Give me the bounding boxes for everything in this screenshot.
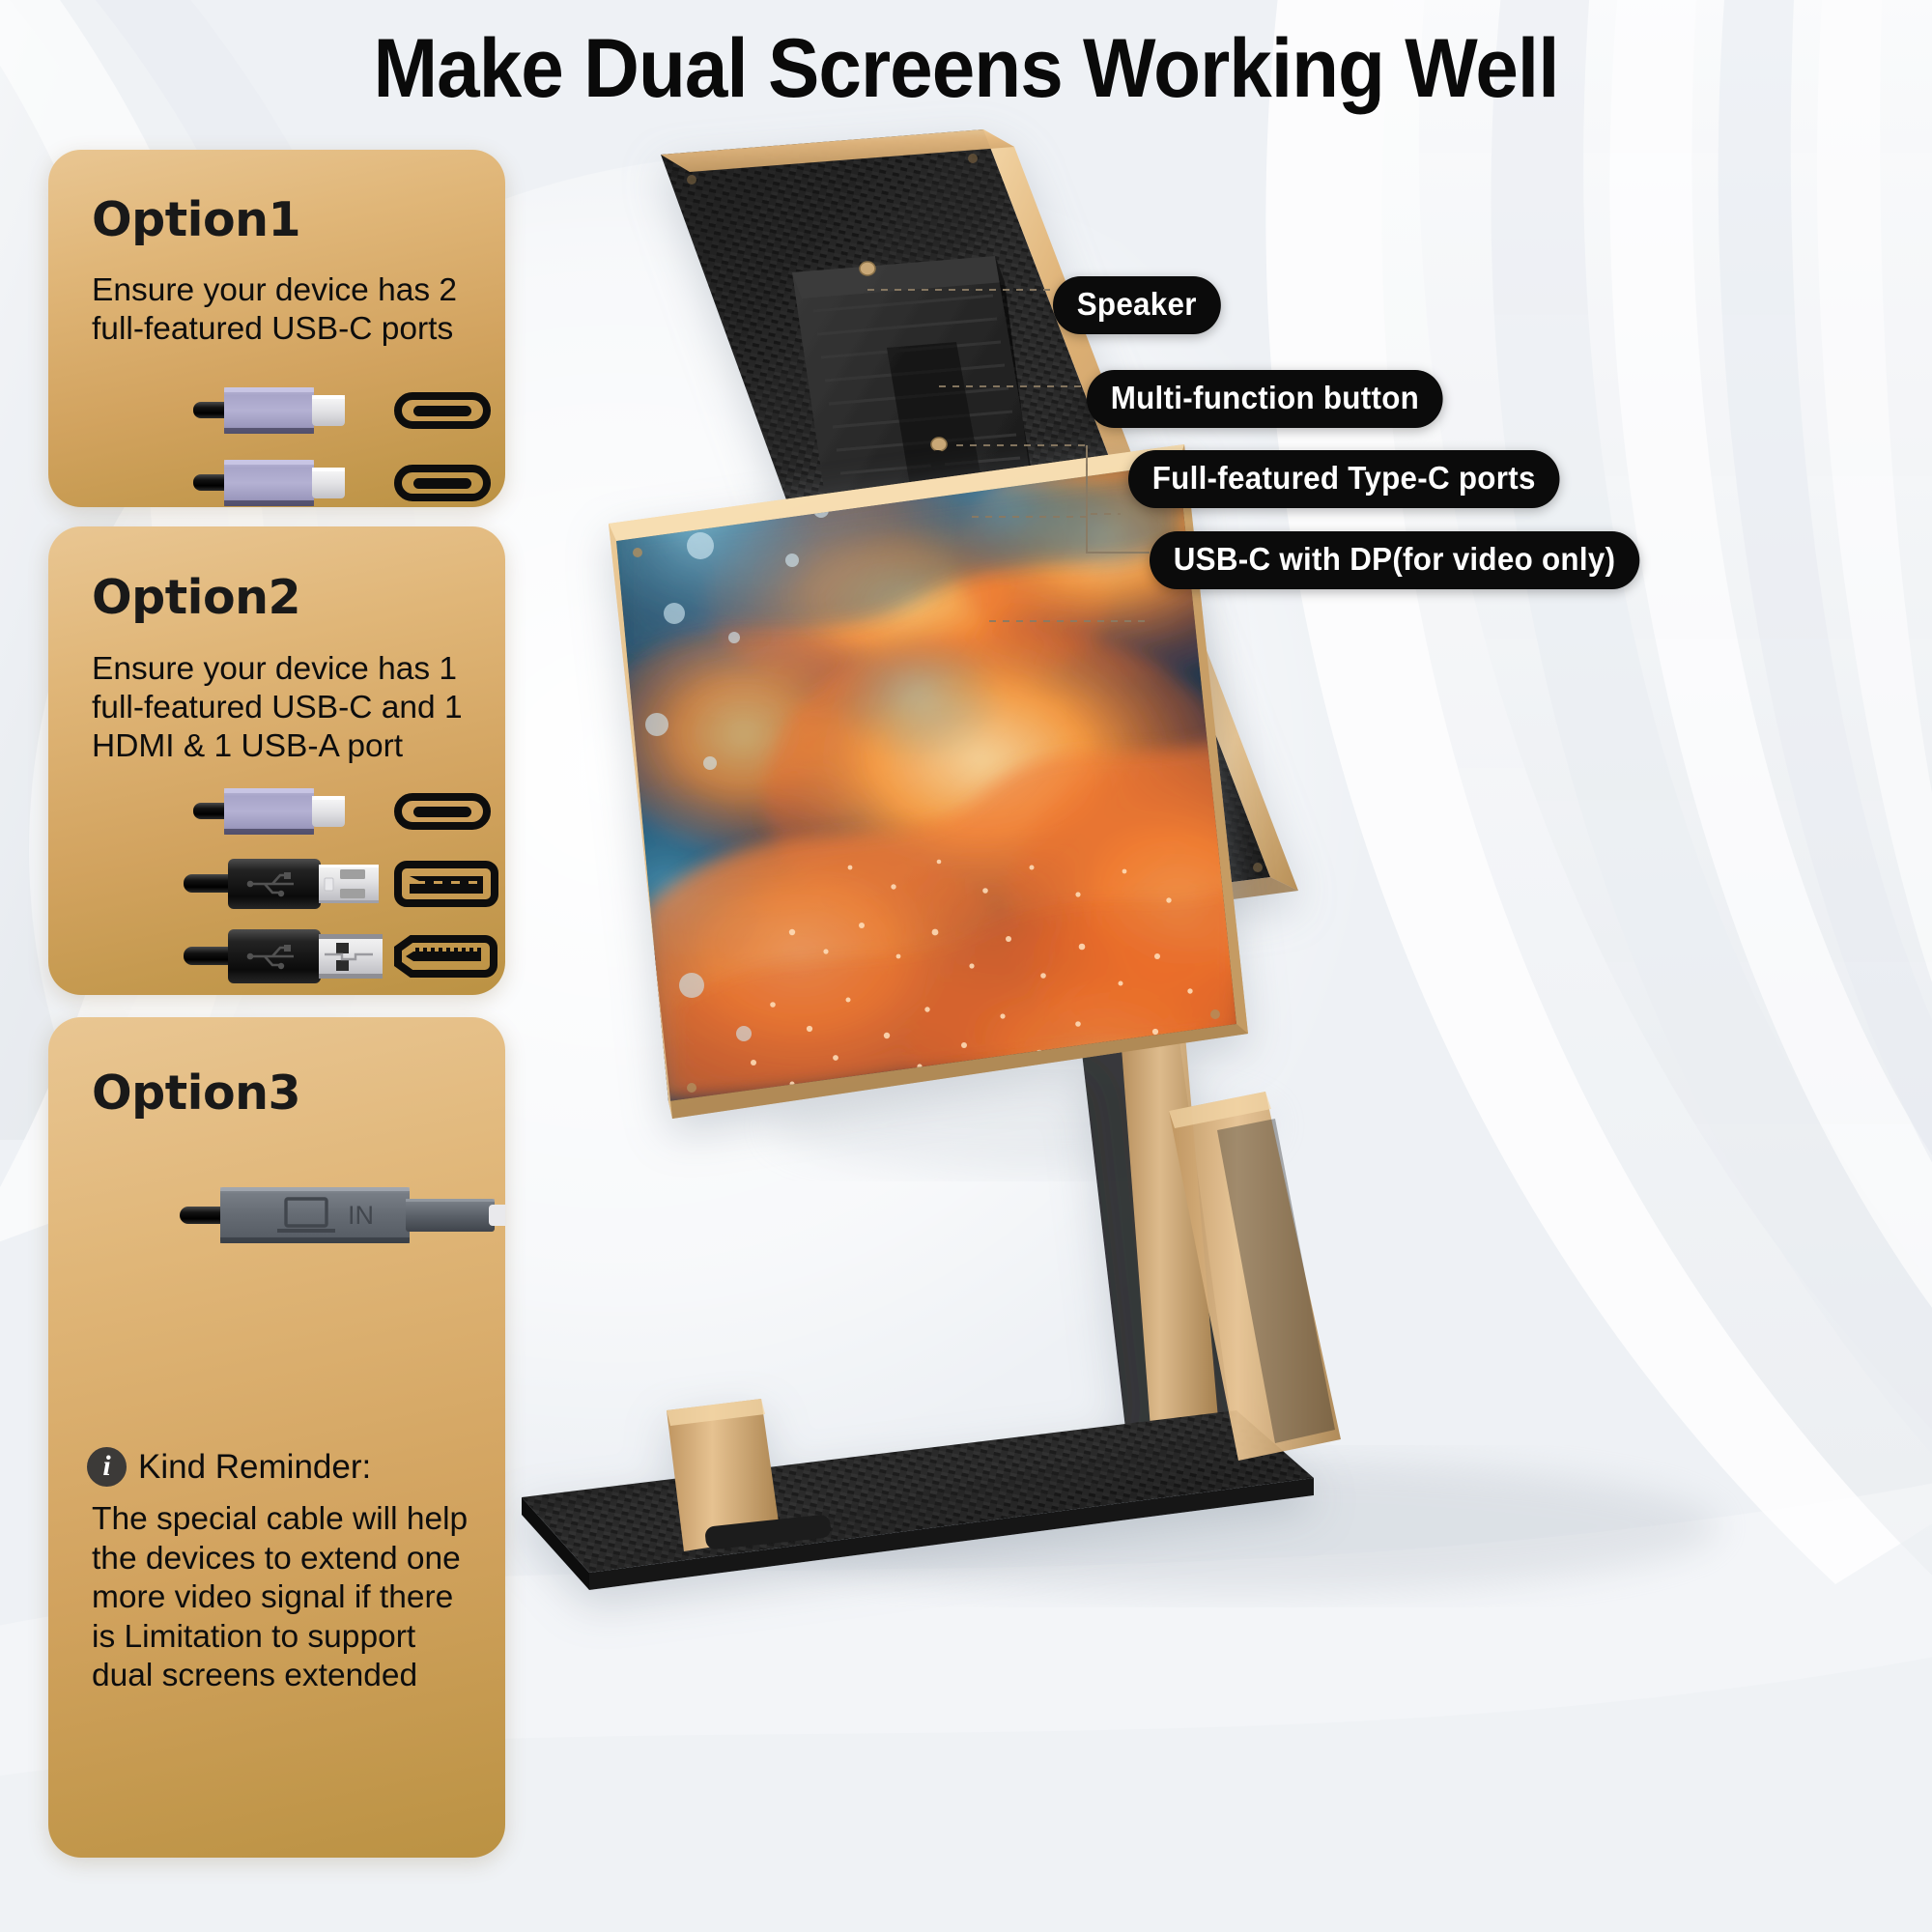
callout-multi-function-button: Multi-function button <box>1087 370 1443 428</box>
page-title: Make Dual Screens Working Well <box>68 21 1864 117</box>
callout-leaders <box>0 0 1932 1932</box>
callout-usbc-dp: USB-C with DP(for video only) <box>1150 531 1639 589</box>
callout-type-c-ports: Full-featured Type-C ports <box>1128 450 1559 508</box>
callout-speaker: Speaker <box>1053 276 1220 334</box>
